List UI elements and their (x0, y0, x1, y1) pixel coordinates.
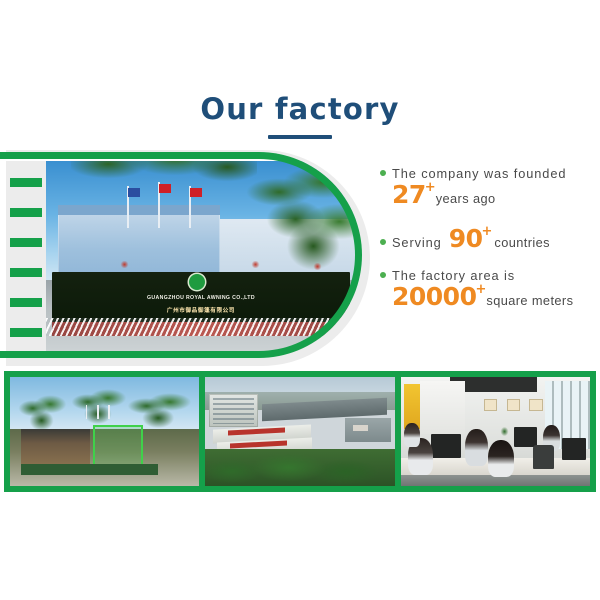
stat-lead-text: The company was founded (392, 166, 566, 181)
stat-unit-text: countries (494, 235, 550, 250)
stat-unit-text: square meters (486, 293, 573, 308)
bullet-icon (380, 239, 386, 245)
stat-number: 90 (449, 226, 483, 252)
wall-frame-icon (507, 399, 520, 411)
stat-item-countries: Serving 90 + countries (380, 226, 596, 252)
garden-planter (21, 464, 157, 475)
flagpole-icon (97, 405, 99, 419)
pill-photo-frame: GUANGZHOU ROYAL AWNING CO.,LTD 广州市御品御篷有限… (6, 152, 362, 358)
decorative-tick-strip (6, 161, 46, 353)
wall-frame-icon (484, 399, 497, 411)
gallery-item-garden (10, 377, 199, 486)
office-plant-icon (499, 425, 510, 438)
signboard-chinese-text: 广州市御品御篷有限公司 (52, 306, 350, 314)
tick-mark (10, 238, 42, 247)
stat-item-area: The factory area is 20000 + square meter… (380, 268, 596, 310)
office-chair (533, 445, 554, 469)
computer-monitor-icon (514, 427, 537, 447)
computer-monitor-icon (562, 438, 587, 460)
title-underline (268, 135, 332, 139)
office-wall (420, 381, 465, 433)
factory-entrance-photo: GUANGZHOU ROYAL AWNING CO.,LTD 广州市御品御篷有限… (46, 161, 356, 353)
gallery-item-office (401, 377, 590, 486)
page-header: Our factory (0, 92, 600, 139)
company-logo-icon (189, 274, 205, 290)
signboard-english-text: GUANGZHOU ROYAL AWNING CO.,LTD (52, 295, 350, 301)
office-staff-figure (465, 429, 488, 466)
tick-mark (10, 268, 42, 277)
wall-frame-icon (529, 399, 542, 411)
stat-lead-text: The factory area is (392, 268, 515, 283)
computer-monitor-icon (431, 434, 461, 458)
stat-item-founded: The company was founded 27 + years ago (380, 166, 596, 208)
flagpole-icon (108, 405, 110, 419)
photo-flowerbed (313, 263, 322, 270)
tick-mark (10, 208, 42, 217)
company-signboard: GUANGZHOU ROYAL AWNING CO.,LTD 广州市御品御篷有限… (52, 272, 350, 322)
tick-mark (10, 178, 42, 187)
stat-unit-text: years ago (436, 191, 496, 206)
bullet-icon (380, 170, 386, 176)
stat-plus-sign: + (425, 180, 436, 195)
stat-plus-sign: + (482, 224, 493, 239)
aerial-truck (353, 425, 368, 432)
tick-mark (10, 328, 42, 337)
aerial-treeline (205, 449, 394, 486)
gallery-item-aerial (205, 377, 394, 486)
factory-stats-list: The company was founded 27 + years ago S… (380, 166, 596, 322)
stat-plus-sign: + (475, 282, 486, 297)
aerial-office-block (209, 394, 258, 427)
stat-lead-text: Serving (392, 235, 442, 250)
photo-retractable-gate (46, 318, 356, 335)
garden-pavilion (21, 429, 89, 468)
flagpole-icon (86, 405, 88, 419)
stat-number: 20000 (392, 284, 476, 310)
photo-foliage-top (71, 161, 257, 199)
photo-roofline (58, 205, 219, 215)
office-staff-figure (488, 440, 515, 477)
office-staff-figure (404, 423, 419, 447)
page-title: Our factory (0, 92, 600, 126)
photo-flowerbed (120, 261, 129, 268)
bullet-icon (380, 272, 386, 278)
factory-photo-panel: GUANGZHOU ROYAL AWNING CO.,LTD 广州市御品御篷有限… (6, 150, 370, 366)
stat-number: 27 (392, 182, 426, 208)
tick-mark (10, 298, 42, 307)
gallery-strip (4, 371, 596, 492)
photo-palm-tree (238, 165, 356, 288)
photo-flowerbed (251, 261, 260, 268)
